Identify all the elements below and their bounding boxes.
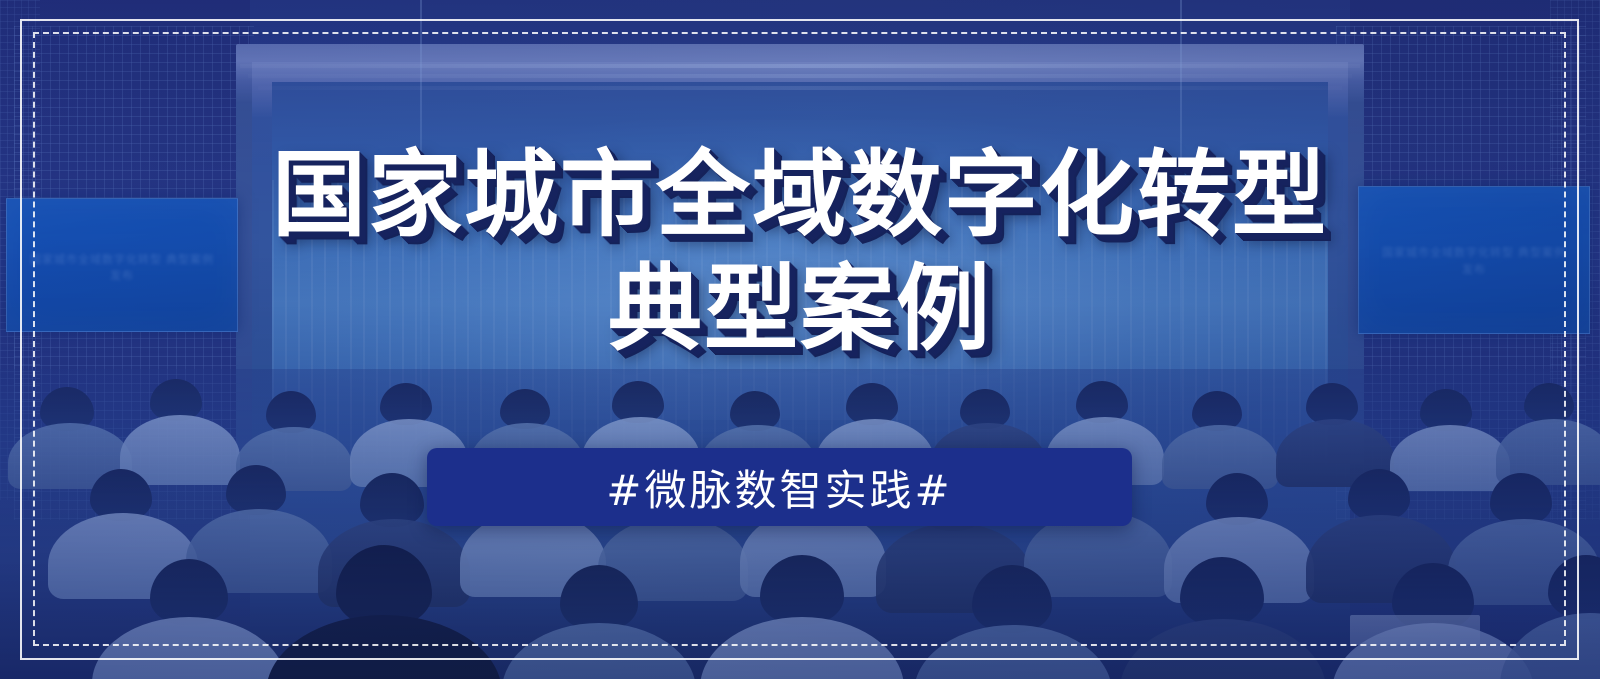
background-photo: 国家城市全域数字化转型 典型案例发布 国家城市全域数字化转型 典型案例发布 — [0, 0, 1600, 679]
hashtag-badge: #微脉数智实践# — [427, 448, 1132, 526]
photo-blue-tint-2 — [0, 0, 1600, 679]
conference-banner: 国家城市全域数字化转型 典型案例发布 国家城市全域数字化转型 典型案例发布 — [0, 0, 1600, 679]
hashtag-badge-label: #微脉数智实践# — [606, 457, 952, 518]
